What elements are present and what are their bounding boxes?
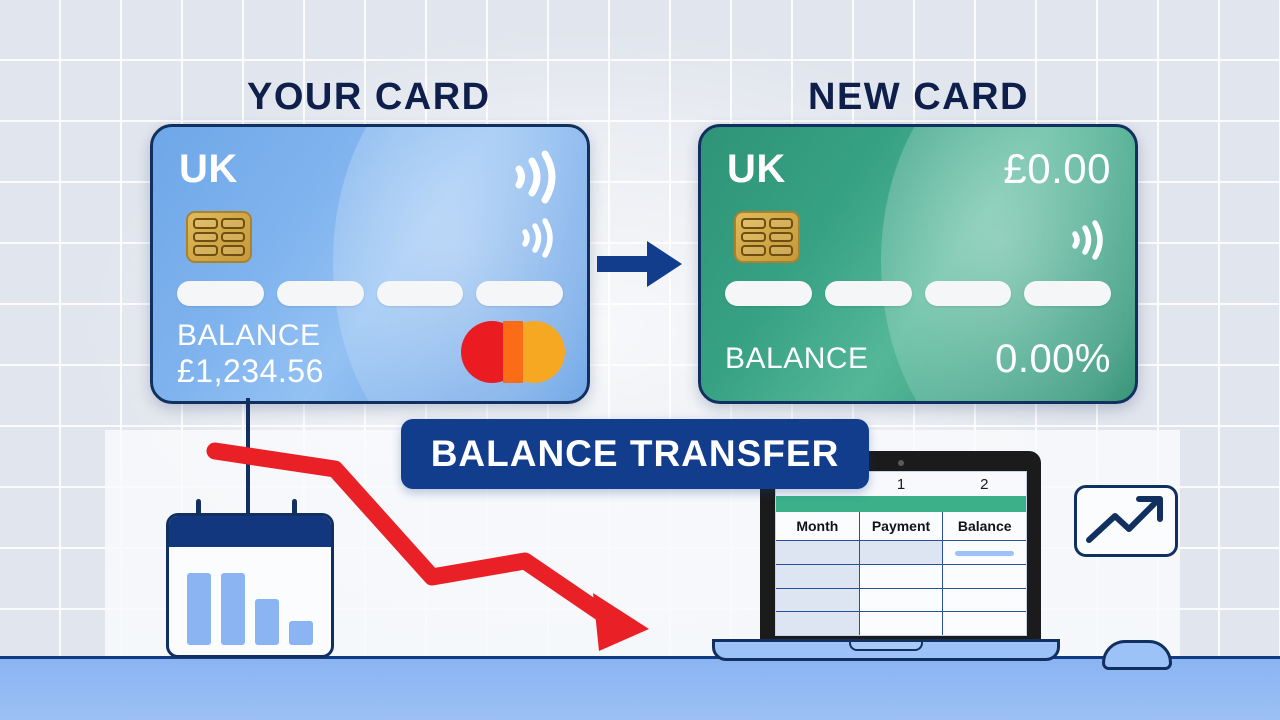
- spreadsheet-cell[interactable]: [776, 612, 860, 635]
- chip-contact: [221, 245, 246, 256]
- spreadsheet-header-payment: Payment: [860, 512, 944, 540]
- chip-contact: [193, 218, 218, 229]
- infographic-canvas: YOUR CARD NEW CARD UK: [0, 0, 1280, 720]
- new-card-balance-label: BALANCE: [725, 342, 869, 376]
- computer-mouse[interactable]: [1102, 640, 1172, 670]
- new-card-region-label: UK: [727, 147, 786, 192]
- card-number-blocks: [725, 281, 1111, 306]
- spreadsheet-cell[interactable]: [860, 541, 944, 564]
- desk-surface: [0, 659, 1280, 720]
- contactless-icon: [511, 149, 563, 205]
- spreadsheet[interactable]: 1 2 Month Payment Balance: [775, 471, 1027, 636]
- spreadsheet-row[interactable]: [776, 565, 1026, 589]
- mastercard-logo: [461, 321, 565, 383]
- cell-value-bar: [955, 551, 1015, 556]
- trending-up-icon: [1074, 485, 1178, 557]
- calendar-bar: [187, 573, 211, 645]
- contactless-icon-small: [519, 217, 559, 259]
- spreadsheet-accent-bar: [776, 496, 1026, 512]
- card-number-group: [277, 281, 364, 306]
- your-card[interactable]: UK: [150, 124, 590, 404]
- spreadsheet-cell[interactable]: [943, 612, 1026, 635]
- your-card-balance-label: BALANCE: [177, 319, 321, 353]
- your-card-region-label: UK: [179, 147, 238, 192]
- laptop-camera: [898, 460, 904, 466]
- card-number-group: [825, 281, 912, 306]
- spreadsheet-cell[interactable]: [776, 541, 860, 564]
- spreadsheet-cell[interactable]: [943, 589, 1026, 612]
- chip-contact: [769, 218, 794, 229]
- card-number-group: [177, 281, 264, 306]
- arrow-right-icon: [595, 238, 685, 290]
- chip-contact: [221, 218, 246, 229]
- calendar-bar: [221, 573, 245, 645]
- calendar-bar: [289, 621, 313, 645]
- spreadsheet-row[interactable]: [776, 612, 1026, 635]
- spreadsheet-header-balance: Balance: [943, 512, 1026, 540]
- calendar-body: [166, 513, 334, 658]
- card-number-group: [476, 281, 563, 306]
- your-card-heading: YOUR CARD: [247, 76, 491, 119]
- chip-contact: [193, 232, 218, 243]
- spreadsheet-colnum: 2: [943, 472, 1026, 496]
- chip-contact: [193, 245, 218, 256]
- calendar-bar: [255, 599, 279, 645]
- chip-contact: [741, 245, 766, 256]
- spreadsheet-cell[interactable]: [860, 589, 944, 612]
- spreadsheet-row[interactable]: [776, 589, 1026, 613]
- chip-contact: [741, 218, 766, 229]
- laptop-base: [712, 639, 1060, 661]
- spreadsheet-cell[interactable]: [943, 541, 1026, 564]
- spreadsheet-header-month: Month: [776, 512, 860, 540]
- spreadsheet-cell[interactable]: [860, 565, 944, 588]
- card-number-group: [725, 281, 812, 306]
- card-number-group: [1024, 281, 1111, 306]
- calendar-bar-chart: [187, 563, 319, 645]
- new-card[interactable]: UK £0.00 BALANCE 0.00%: [698, 124, 1138, 404]
- card-number-blocks: [177, 281, 563, 306]
- chip-contact: [769, 245, 794, 256]
- calendar-chart-icon: [166, 513, 334, 658]
- spreadsheet-colnum: 1: [859, 472, 942, 496]
- spreadsheet-cell[interactable]: [860, 612, 944, 635]
- your-card-balance-value: £1,234.56: [177, 353, 324, 390]
- contactless-icon: [1069, 219, 1109, 261]
- new-card-amount: £0.00: [1003, 145, 1111, 193]
- balance-transfer-banner[interactable]: BALANCE TRANSFER: [401, 419, 869, 489]
- new-card-heading: NEW CARD: [808, 76, 1029, 119]
- mastercard-overlap: [503, 321, 523, 383]
- spreadsheet-cell[interactable]: [943, 565, 1026, 588]
- emv-chip-icon: [186, 211, 252, 263]
- spreadsheet-cell[interactable]: [776, 589, 860, 612]
- chip-contact: [769, 232, 794, 243]
- spreadsheet-row[interactable]: [776, 541, 1026, 565]
- calendar-header: [169, 516, 331, 547]
- spreadsheet-cell[interactable]: [776, 565, 860, 588]
- emv-chip-icon: [734, 211, 800, 263]
- new-card-apr-value: 0.00%: [995, 337, 1111, 382]
- chip-contact: [221, 232, 246, 243]
- card-number-group: [925, 281, 1012, 306]
- balance-transfer-label: BALANCE TRANSFER: [431, 433, 840, 475]
- laptop-notch: [849, 642, 923, 651]
- card-number-group: [377, 281, 464, 306]
- chip-contact: [741, 232, 766, 243]
- spreadsheet-header-row: Month Payment Balance: [776, 512, 1026, 541]
